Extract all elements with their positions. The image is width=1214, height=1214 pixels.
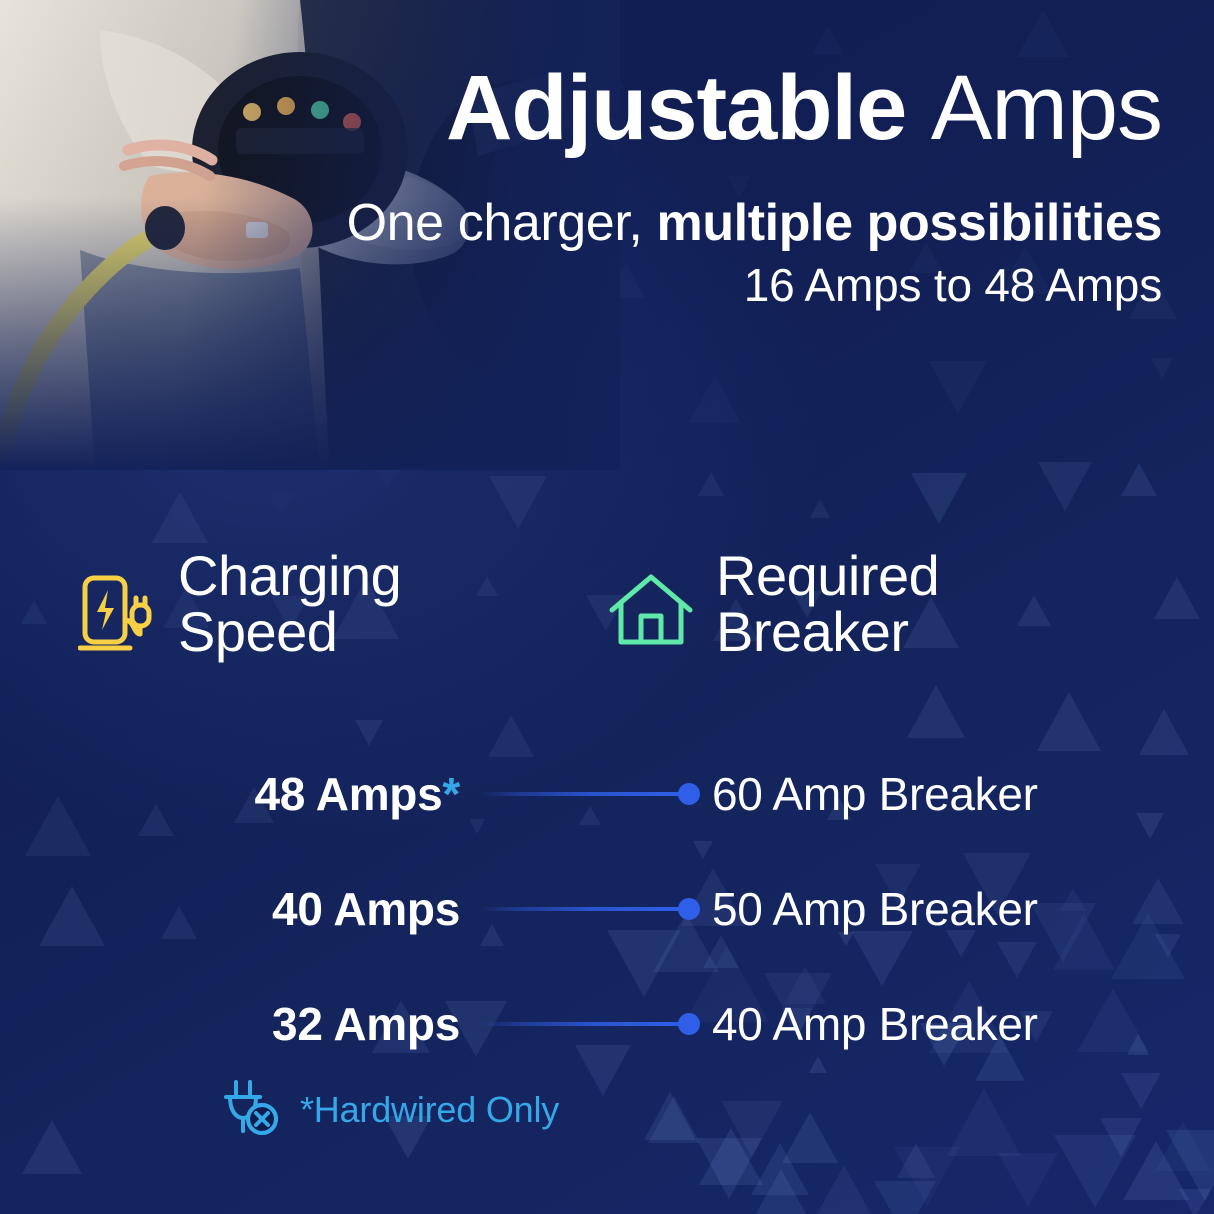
charging-speed-value: 40 Amps [0,882,460,936]
house-icon [608,572,694,655]
infographic-canvas: Adjustable Amps One charger, multiple po… [0,0,1214,1214]
triangle-decoration [22,1120,82,1174]
connector-dot [678,898,700,920]
triangle-decoration [810,499,830,518]
triangle-decoration [1100,1118,1142,1157]
hero-subtitle-bold: multiple possibilities [656,194,1162,252]
connector-stroke [480,907,680,911]
footnote-marker: * [442,768,460,820]
column-headers: Charging Speed Required Breaker [0,548,1214,698]
triangle-decoration [699,1128,763,1185]
plug-disabled-icon [218,1076,280,1143]
amps-breaker-row: 40 Amps50 Amp Breaker [0,851,1214,966]
hero-subtitle: One charger, multiple possibilities [0,194,1162,252]
triangle-decoration [812,26,844,55]
column-title-line1: Required [716,548,939,604]
triangle-decoration [782,1112,838,1163]
amps-breaker-list: 48 Amps*60 Amp Breaker40 Amps50 Amp Brea… [0,736,1214,1081]
triangle-decoration [998,1153,1058,1207]
triangle-decoration [1179,1189,1211,1214]
triangle-decoration [152,492,208,543]
required-breaker-value: 40 Amp Breaker [712,997,1038,1051]
required-breaker-value: 60 Amp Breaker [712,767,1038,821]
triangle-decoration [1121,463,1157,496]
triangle-decoration [1038,462,1092,511]
triangle-decoration [698,472,724,496]
triangle-decoration [1054,1135,1136,1208]
column-header-required-breaker: Required Breaker [608,548,939,660]
connector-line [480,1011,700,1037]
column-title-charging-speed: Charging Speed [178,548,401,660]
triangle-decoration [739,1169,823,1214]
page-title: Adjustable Amps [0,60,1162,158]
triangle-decoration [894,1147,960,1206]
column-title-line2: Breaker [716,604,939,660]
column-title-required-breaker: Required Breaker [716,548,939,660]
triangle-decoration [696,1138,762,1199]
column-title-line2: Speed [178,604,401,660]
connector-line [480,896,700,922]
triangle-decoration [268,493,294,516]
triangle-decoration [911,473,967,524]
triangle-decoration [751,1143,809,1195]
triangle-decoration [947,1088,1021,1156]
triangle-decoration [1151,358,1173,379]
triangle-decoration [1155,1121,1211,1171]
triangle-decoration [489,476,547,529]
charging-speed-value: 48 Amps* [0,767,460,821]
connector-dot [678,783,700,805]
triangle-decoration [1166,1130,1214,1201]
connector-stroke [480,792,680,796]
charging-speed-value: 32 Amps [0,997,460,1051]
connector-dot [678,1013,700,1035]
column-title-line1: Charging [178,548,401,604]
triangle-decoration [644,1092,696,1140]
triangle-decoration [929,361,987,414]
connector-stroke [480,1022,680,1026]
hero-subtitle-light: One charger, [347,194,643,252]
page-title-bold: Adjustable [446,57,906,159]
hero-range-line: 16 Amps to 48 Amps [0,258,1162,312]
footnote-label: *Hardwired Only [300,1089,559,1131]
connector-line [480,781,700,807]
triangle-decoration [897,1143,935,1178]
page-title-light: Amps [931,57,1162,159]
triangle-decoration [689,375,741,423]
required-breaker-value: 50 Amp Breaker [712,882,1038,936]
triangle-decoration [1123,1141,1189,1200]
column-header-charging-speed: Charging Speed [78,548,401,661]
triangle-decoration [721,1101,783,1157]
hero-text-block: Adjustable Amps One charger, multiple po… [0,60,1162,312]
triangle-decoration [648,1096,700,1143]
triangle-decoration [806,1165,882,1214]
triangle-decoration [874,1181,936,1214]
amps-breaker-row: 32 Amps40 Amp Breaker [0,966,1214,1081]
amps-breaker-row: 48 Amps*60 Amp Breaker [0,736,1214,851]
ev-charging-station-icon [78,572,156,661]
footnote: *Hardwired Only [218,1076,559,1143]
triangle-decoration [1017,10,1069,57]
